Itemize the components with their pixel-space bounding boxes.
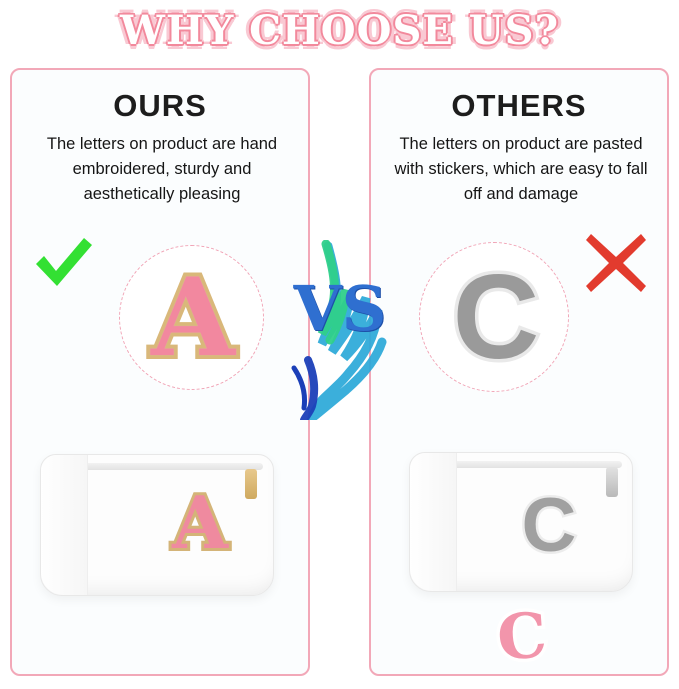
pouch-others: C [409, 452, 633, 592]
panel-ours-description: The letters on product are hand embroide… [28, 132, 296, 207]
comparison-infographic: WHY CHOOSE US? OURS The letters on produ… [0, 0, 679, 689]
zipper-pull-silver [606, 467, 618, 497]
patch-circle-ours: A [119, 245, 264, 390]
panel-others-title: OTHERS [371, 88, 667, 124]
pouch-side-flap [410, 453, 457, 591]
pouch-side-flap [41, 455, 88, 595]
pouch-letter-ours: A [169, 485, 231, 559]
versus-graphic: VS [282, 240, 398, 420]
panel-others: OTHERS The letters on product are pasted… [369, 68, 669, 676]
page-title-text: WHY CHOOSE US? [120, 8, 559, 54]
zipper-pull-gold [245, 469, 257, 499]
sticker-letter-patch: C [446, 257, 546, 377]
page-title: WHY CHOOSE US? [0, 8, 679, 54]
fallen-sticker-patch: C [485, 600, 560, 675]
check-mark-icon [30, 232, 96, 298]
panel-others-description: The letters on product are pasted with s… [387, 132, 655, 207]
patch-circle-others: C [419, 242, 569, 392]
pouch-ours: A [40, 454, 274, 596]
pouch-letter-others: C [514, 487, 584, 561]
versus-label: VS [290, 278, 390, 340]
chenille-letter-patch: A [150, 262, 236, 374]
panel-ours-title: OURS [12, 88, 308, 124]
panel-ours: OURS The letters on product are hand emb… [10, 68, 310, 676]
cross-mark-icon [583, 230, 649, 296]
